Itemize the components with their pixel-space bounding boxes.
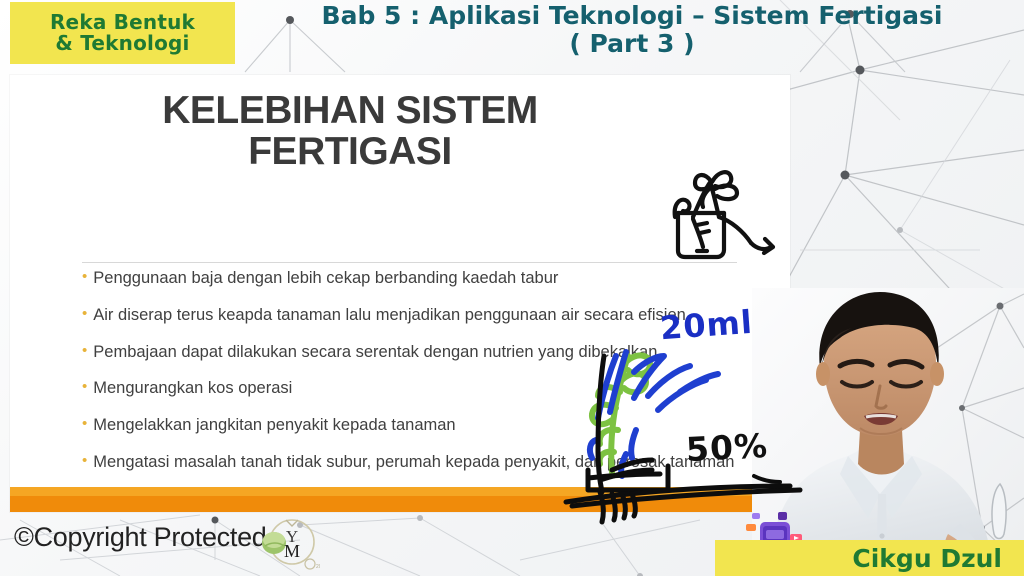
bullet-dot-icon: • (82, 451, 87, 471)
presenter-name-label: Cikgu Dzul (852, 544, 1002, 573)
list-item: • Mengelakkan jangkitan penyakit kepada … (82, 414, 744, 437)
subject-banner-line1: Reka Bentuk (50, 12, 195, 33)
list-item-label: Mengurangkan kos operasi (93, 377, 744, 400)
list-item-label: Mengelakkan jangkitan penyakit kepada ta… (93, 414, 744, 437)
list-item-label: Mengatasi masalah tanah tidak subur, per… (93, 451, 744, 474)
slide-footer-bar-light (10, 487, 790, 496)
page-title: Bab 5 : Aplikasi Teknologi – Sistem Fert… (240, 2, 1024, 74)
presenter-name-banner: Cikgu Dzul (715, 540, 1024, 576)
list-item: • Mengurangkan kos operasi (82, 377, 744, 400)
bullet-dot-icon: • (82, 414, 87, 434)
bullet-list: • Penggunaan baja dengan lebih cekap ber… (82, 267, 744, 512)
bullet-dot-icon: • (82, 304, 87, 324)
slide-title-line1: KELEBIHAN SISTEM (50, 91, 650, 132)
bullet-dot-icon: • (82, 341, 87, 361)
slide-title: KELEBIHAN SISTEM FERTIGASI (50, 91, 650, 172)
page-title-line1: Bab 5 : Aplikasi Teknologi – Sistem Fert… (322, 2, 943, 30)
svg-text:20: 20 (316, 564, 320, 570)
svg-text:M: M (284, 541, 300, 561)
slide-footer-bar (10, 487, 790, 512)
copyright-text: ©Copyright Protected (14, 522, 267, 553)
ym-circle-logo-icon: Y M 20 (258, 516, 320, 572)
bullet-dot-icon: • (82, 377, 87, 397)
list-item-label: Pembajaan dapat dilakukan secara serenta… (93, 341, 744, 364)
list-item: • Mengatasi masalah tanah tidak subur, p… (82, 451, 744, 474)
page-title-line2: ( Part 3 ) (569, 30, 694, 58)
list-item: • Air diserap terus keapda tanaman lalu … (82, 304, 744, 327)
title-divider (82, 262, 737, 263)
slide-footer-bar-dark (10, 496, 790, 512)
list-item: • Pembajaan dapat dilakukan secara seren… (82, 341, 744, 364)
potted-plant-sketch-icon (645, 155, 785, 260)
slide-title-line2: FERTIGASI (50, 132, 650, 173)
list-item: • Penggunaan baja dengan lebih cekap ber… (82, 267, 744, 290)
header-bar: Reka Bentuk & Teknologi Bab 5 : Aplikasi… (0, 0, 1024, 75)
subject-banner-line2: & Teknologi (55, 33, 189, 54)
list-item-label: Penggunaan baja dengan lebih cekap berba… (93, 267, 744, 290)
subject-banner: Reka Bentuk & Teknologi (10, 2, 235, 64)
bullet-dot-icon: • (82, 267, 87, 287)
list-item-label: Air diserap terus keapda tanaman lalu me… (93, 304, 744, 327)
slide-canvas: KELEBIHAN SISTEM FERTIGASI • Penggunaan (10, 75, 790, 512)
